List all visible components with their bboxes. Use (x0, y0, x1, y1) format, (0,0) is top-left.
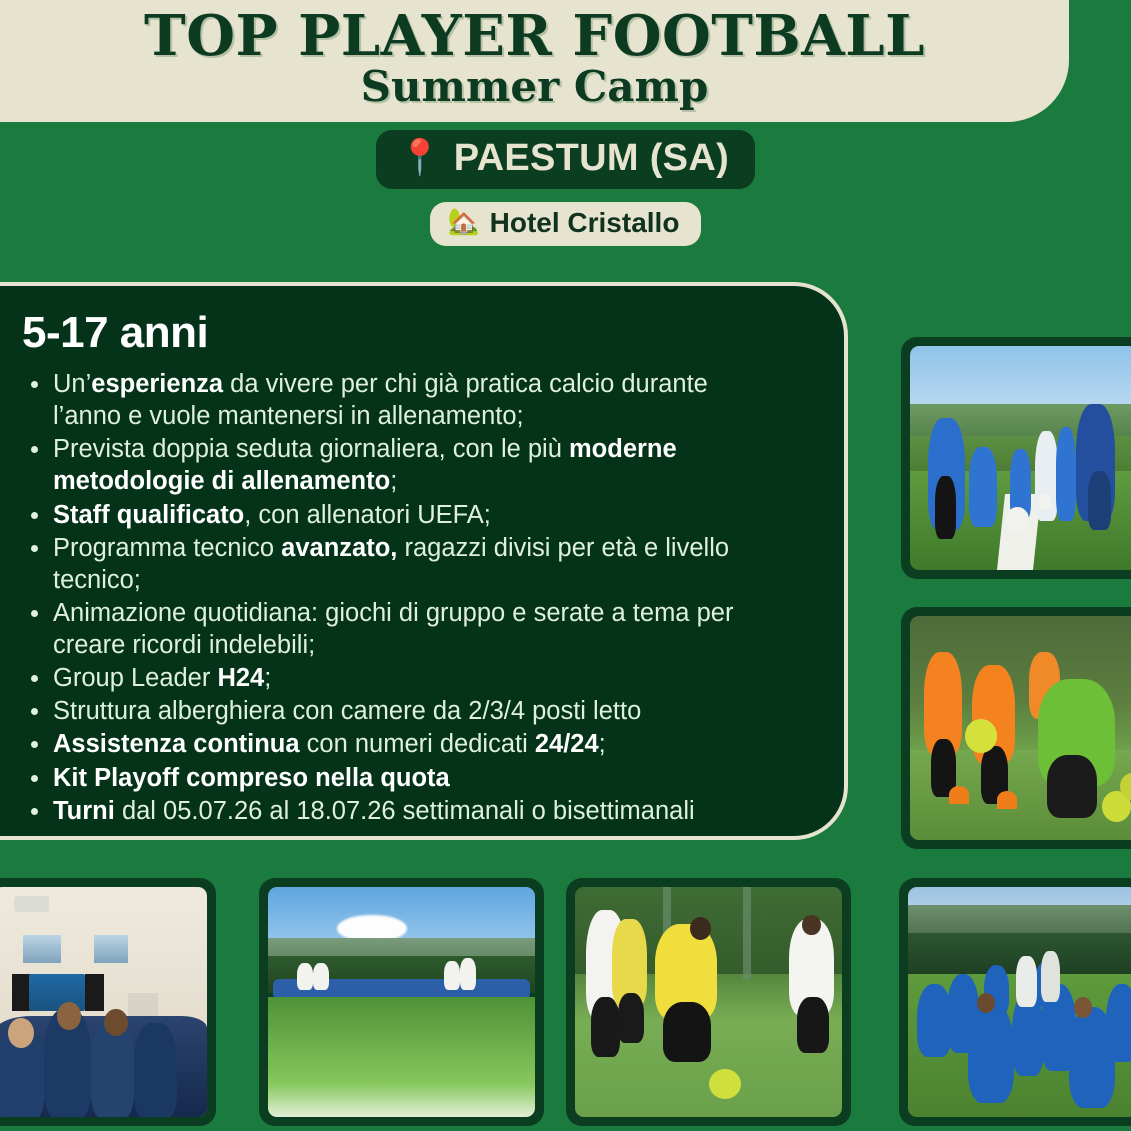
page-title: TOP PLAYER FOOTBALL (144, 6, 925, 66)
photo-team-gathering-image (908, 887, 1131, 1117)
feature-item: Assistenza continua con numeri dedicati … (22, 728, 782, 760)
city-badge: 📍 PAESTUM (SA) (376, 130, 755, 189)
feature-item: Struttura alberghiera con camere da 2/3/… (22, 695, 782, 727)
photo-indoor-room (0, 878, 216, 1126)
feature-item: Staff qualificato, con allenatori UEFA; (22, 499, 782, 531)
photo-orange-bibs-coach (901, 607, 1131, 849)
poster-root: TOP PLAYER FOOTBALL Summer Camp 📍 PAESTU… (0, 0, 1131, 1131)
feature-item: Un’esperienza da vivere per chi già prat… (22, 368, 782, 432)
feature-item: Turni dal 05.07.26 al 18.07.26 settimana… (22, 795, 782, 827)
photo-grass-group-image (268, 887, 535, 1117)
photo-team-gathering (899, 878, 1131, 1126)
location-badges: 📍 PAESTUM (SA) 🏡 Hotel Cristallo (0, 130, 1131, 246)
pushpin-icon: 📍 (398, 141, 442, 176)
header-band: TOP PLAYER FOOTBALL Summer Camp (0, 0, 1069, 122)
city-badge-label: PAESTUM (SA) (454, 139, 729, 177)
age-range-heading: 5-17 anni (22, 308, 782, 358)
photo-orange-bibs-coach-image (910, 616, 1131, 840)
hotel-badge: 🏡 Hotel Cristallo (430, 202, 702, 246)
photo-match-yellow-white-image (575, 887, 842, 1117)
photo-grass-group (259, 878, 544, 1126)
photo-match-yellow-white (566, 878, 851, 1126)
hotel-badge-label: Hotel Cristallo (490, 209, 680, 237)
features-list: Un’esperienza da vivere per chi già prat… (22, 368, 782, 827)
photo-indoor-room-image (0, 887, 207, 1117)
feature-item: Group Leader H24; (22, 662, 782, 694)
photo-training-blue-kits (901, 337, 1131, 579)
page-subtitle: Summer Camp (361, 64, 709, 110)
feature-item: Programma tecnico avanzato, ragazzi divi… (22, 532, 782, 596)
feature-item: Prevista doppia seduta giornaliera, con … (22, 433, 782, 497)
feature-item: Animazione quotidiana: giochi di gruppo … (22, 597, 782, 661)
features-card: 5-17 anni Un’esperienza da vivere per ch… (0, 282, 848, 840)
house-icon: 🏡 (448, 210, 480, 236)
feature-item: Kit Playoff compreso nella quota (22, 762, 782, 794)
photo-training-blue-kits-image (910, 346, 1131, 570)
